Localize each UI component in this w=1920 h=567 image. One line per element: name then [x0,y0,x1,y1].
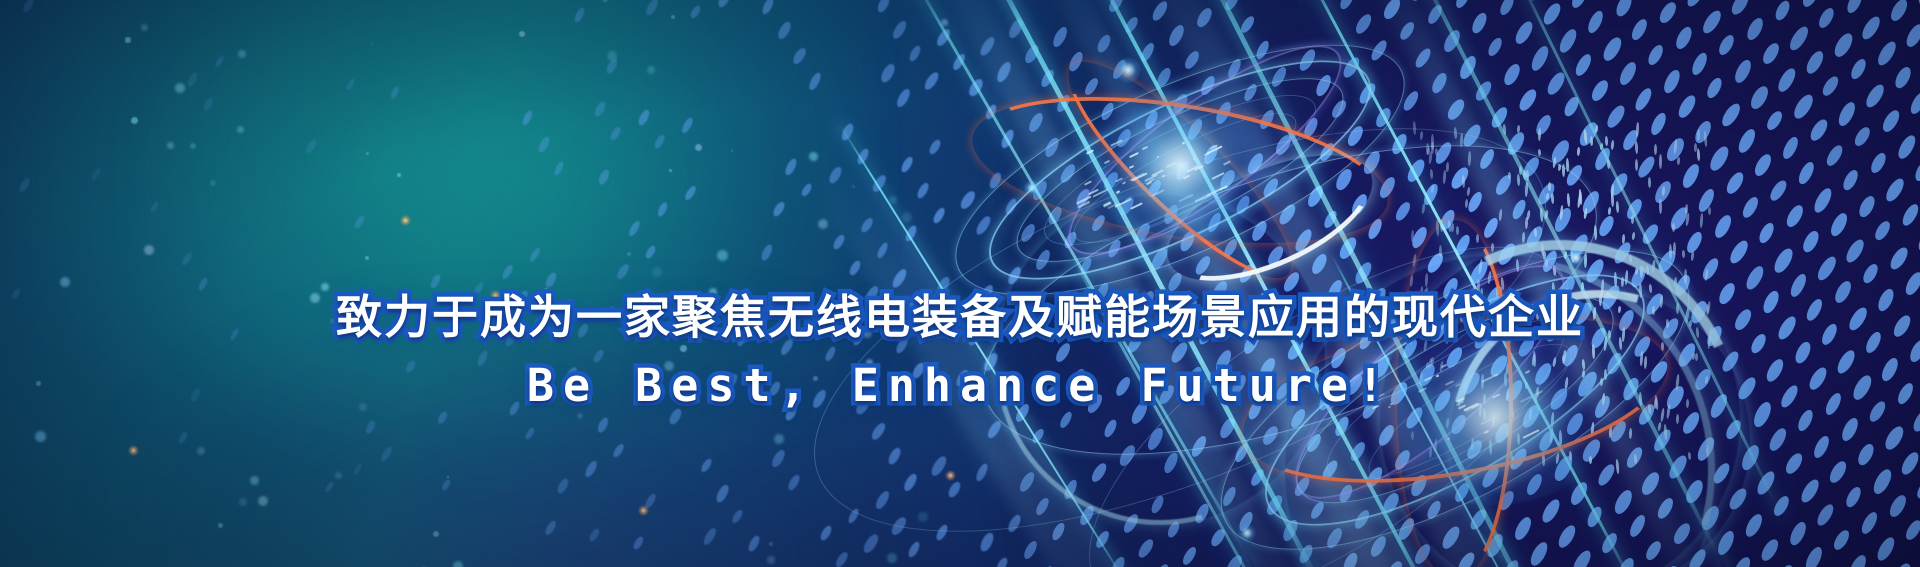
hero-banner: 致力于成为一家聚焦无线电装备及赋能场景应用的现代企业 Be Best, Enha… [0,0,1920,567]
vignette-overlay [0,0,1920,567]
